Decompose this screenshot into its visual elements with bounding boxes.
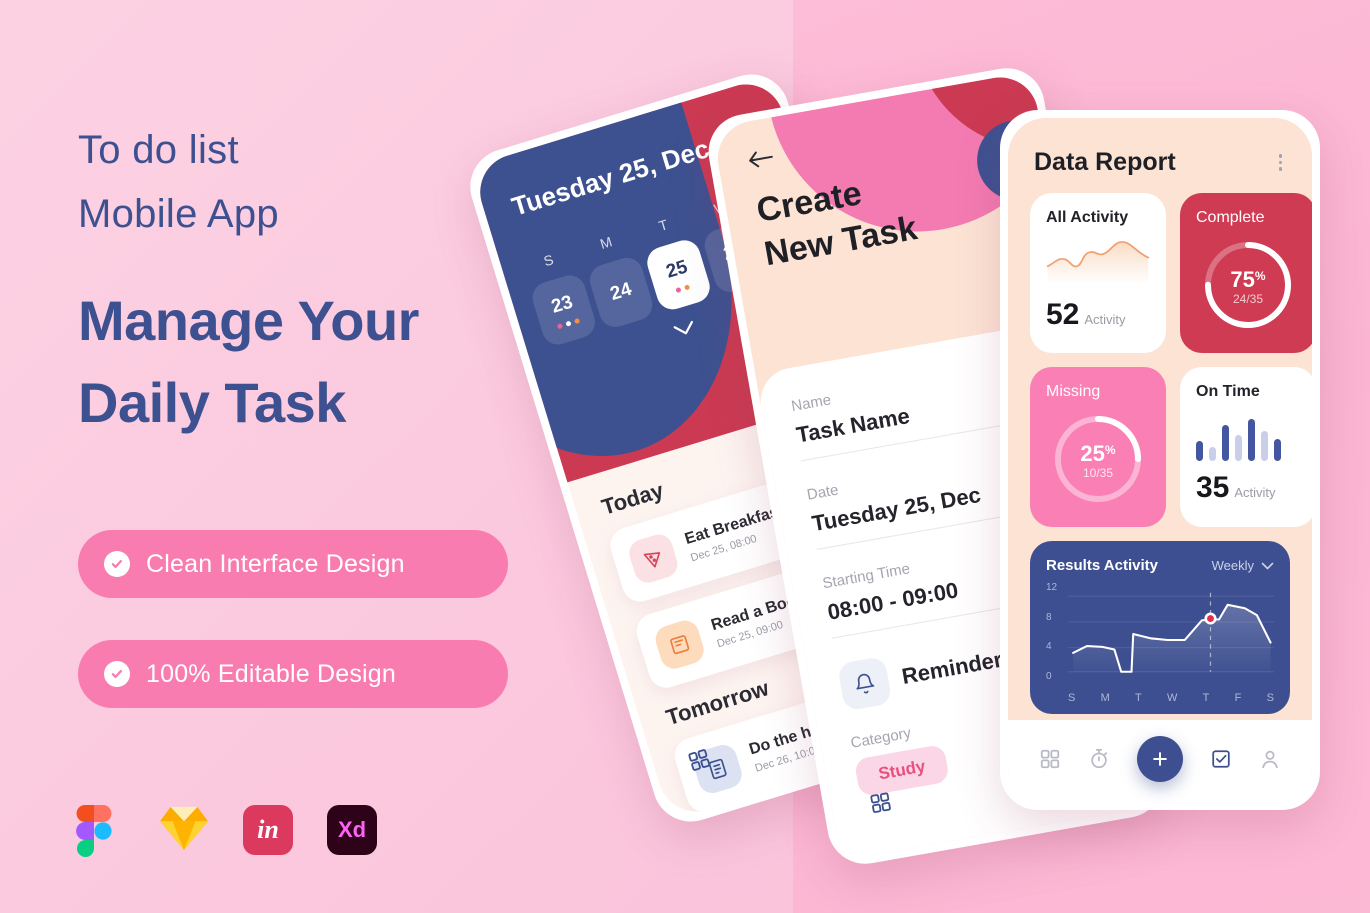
pizza-icon	[626, 531, 681, 586]
checkbox-icon[interactable]	[1210, 748, 1232, 770]
adobe-xd-logo-label: Xd	[327, 805, 377, 855]
results-header: Results Activity Weekly	[1046, 557, 1274, 574]
arrow-left-icon[interactable]	[747, 148, 777, 175]
card-title: All Activity	[1046, 209, 1150, 227]
invision-logo: in	[243, 805, 293, 855]
check-circle-icon	[104, 661, 130, 687]
calendar-day-dots	[556, 318, 579, 330]
create-task-title: Create New Task	[753, 163, 920, 276]
on-time-value: 35	[1196, 471, 1229, 504]
x-tick-4: T	[1203, 692, 1210, 704]
kebab-menu-icon[interactable]	[1275, 150, 1287, 175]
card-results-activity[interactable]: Results Activity Weekly 12 8 4 0	[1030, 541, 1290, 714]
results-range-label: Weekly	[1212, 558, 1254, 573]
calendar-day-number: 25	[664, 256, 691, 283]
check-circle-icon	[104, 551, 130, 577]
on-time-unit: Activity	[1234, 485, 1275, 500]
svg-text:25%: 25%	[1080, 441, 1115, 466]
results-y-axis: 12 8 4 0	[1046, 582, 1057, 682]
y-tick-4: 4	[1046, 641, 1057, 652]
grid-icon[interactable]	[868, 790, 894, 820]
reminder-label: Reminder	[900, 647, 1004, 690]
grid-icon[interactable]	[1039, 748, 1061, 770]
card-title: On Time	[1196, 383, 1300, 401]
complete-percent-symbol: %	[1255, 269, 1266, 283]
report-card-grid: All Activity 52Activity	[1008, 193, 1312, 527]
complete-percent: 75	[1230, 267, 1254, 292]
section-heading-today: Today	[599, 477, 667, 520]
invision-logo-label: in	[243, 805, 293, 855]
stopwatch-icon[interactable]	[1088, 748, 1110, 770]
all-activity-sparkline	[1046, 235, 1150, 287]
headline-line-2: Daily Task	[78, 362, 598, 444]
x-tick-3: W	[1167, 692, 1177, 704]
tool-logo-list: in Xd	[75, 805, 377, 855]
card-on-time[interactable]: On Time 35Activity	[1180, 367, 1312, 527]
feature-badge-clean-interface[interactable]: Clean Interface Design	[78, 530, 508, 598]
results-title: Results Activity	[1046, 557, 1158, 574]
card-complete[interactable]: Complete 75% 24/35	[1180, 193, 1312, 353]
x-tick-5: F	[1235, 692, 1242, 704]
bottom-navigation-bar	[1008, 720, 1312, 802]
y-tick-0: 0	[1046, 671, 1057, 682]
missing-fraction: 10/35	[1083, 466, 1113, 480]
feature-badge-label: 100% Editable Design	[146, 660, 396, 689]
missing-percent-symbol: %	[1105, 443, 1116, 457]
plus-icon[interactable]	[1137, 736, 1183, 782]
book-icon	[652, 617, 707, 672]
adobe-xd-logo: Xd	[327, 805, 377, 855]
feature-badge-list: Clean Interface Design 100% Editable Des…	[78, 530, 508, 750]
figma-logo	[75, 805, 125, 855]
feature-badge-editable[interactable]: 100% Editable Design	[78, 640, 508, 708]
results-x-axis: S M T W T F S	[1068, 692, 1274, 704]
complete-fraction: 24/35	[1233, 292, 1263, 306]
svg-text:75%: 75%	[1230, 267, 1265, 292]
category-tag-study[interactable]: Study	[854, 744, 950, 797]
x-tick-2: T	[1135, 692, 1142, 704]
x-tick-6: S	[1267, 692, 1274, 704]
card-title: Complete	[1196, 209, 1300, 227]
x-tick-1: M	[1101, 692, 1110, 704]
complete-donut: 75% 24/35	[1196, 233, 1300, 337]
results-range-selector[interactable]: Weekly	[1212, 558, 1274, 573]
chevron-down-icon	[1261, 558, 1274, 573]
all-activity-value: 52	[1046, 298, 1079, 331]
card-title: Missing	[1046, 383, 1150, 401]
calendar-day-number: 23	[549, 291, 576, 318]
calendar-day-number: 24	[608, 279, 635, 306]
on-time-value-row: 35Activity	[1196, 471, 1300, 505]
results-plot-svg	[1068, 582, 1274, 686]
feature-badge-label: Clean Interface Design	[146, 550, 405, 579]
missing-donut: 25% 10/35	[1046, 407, 1150, 511]
all-activity-value-row: 52Activity	[1046, 298, 1150, 332]
promo-canvas: To do list Mobile App Manage Your Daily …	[0, 0, 1370, 913]
card-all-activity[interactable]: All Activity 52Activity	[1030, 193, 1166, 353]
y-tick-12: 12	[1046, 582, 1057, 593]
y-tick-8: 8	[1046, 612, 1057, 623]
missing-percent: 25	[1080, 441, 1104, 466]
on-time-bar-chart	[1196, 413, 1300, 461]
data-report-screen: Data Report All Activity	[1008, 118, 1312, 802]
person-icon[interactable]	[1259, 748, 1281, 770]
bell-icon	[837, 656, 893, 712]
page-title: Data Report	[1034, 148, 1176, 177]
sketch-logo	[159, 805, 209, 855]
x-tick-0: S	[1068, 692, 1075, 704]
phone-mockup-data-report: Data Report All Activity	[1000, 110, 1320, 810]
card-missing[interactable]: Missing 25% 10/35	[1030, 367, 1166, 527]
all-activity-unit: Activity	[1084, 312, 1125, 327]
report-header: Data Report	[1008, 118, 1312, 193]
results-line-chart: 12 8 4 0	[1046, 582, 1274, 704]
calendar-day-dots	[675, 284, 690, 293]
